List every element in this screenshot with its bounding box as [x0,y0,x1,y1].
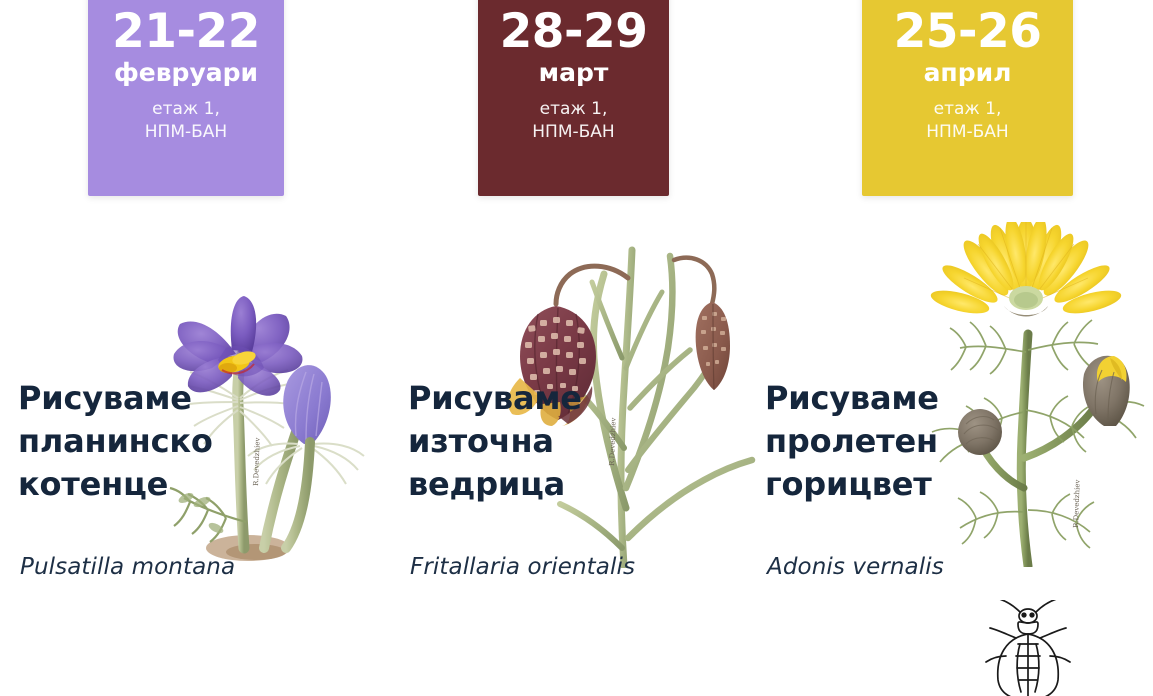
venue-line-1: етаж 1, [868,98,1067,121]
workshop-title: Рисуваме източна ведрица [408,377,582,506]
workshop-column-fritillaria: R.Devedzhiev Рисуваме източна ведрица Fr… [390,196,762,648]
artist-signature: R.Devedzhiev [252,437,262,486]
date-cards-row: 21-22 февруари етаж 1, НПМ-БАН 28-29 мар… [0,0,1153,196]
date-range-label: 25-26 [868,8,1067,57]
latin-species-name: Adonis vernalis [767,554,944,580]
venue-label: етаж 1, НПМ-БАН [484,98,663,144]
venue-line-1: етаж 1, [94,98,278,121]
latin-species-name: Fritallaria orientalis [410,554,635,580]
date-range-label: 28-29 [484,8,663,57]
workshop-title: Рисуваме планинско котенце [18,377,213,506]
date-card-march[interactable]: 28-29 март етаж 1, НПМ-БАН [478,0,669,196]
latin-species-name: Pulsatilla montana [20,554,235,580]
artist-signature: R.Devedzhiev [608,417,618,466]
date-card-april[interactable]: 25-26 април етаж 1, НПМ-БАН [862,0,1073,196]
venue-line-1: етаж 1, [484,98,663,121]
venue-label: етаж 1, НПМ-БАН [94,98,278,144]
date-range-label: 21-22 [94,8,278,57]
poster-canvas: 21-22 февруари етаж 1, НПМ-БАН 28-29 мар… [0,0,1153,648]
adonis-flower-illustration: R.Devedzhiev [902,222,1153,567]
month-label: февруари [94,59,278,87]
workshops-row: R.Devedzhiev Рисуваме планинско котенце … [0,196,1153,648]
workshop-column-adonis: R.Devedzhiev Рисуваме пролетен горицвет … [762,196,1153,648]
workshop-column-pulsatilla: R.Devedzhiev Рисуваме планинско котенце … [0,196,390,648]
venue-line-2: НПМ-БАН [868,121,1067,144]
date-card-february[interactable]: 21-22 февруари етаж 1, НПМ-БАН [88,0,284,196]
month-label: април [868,59,1067,87]
beetle-logo-icon [982,600,1074,696]
month-label: март [484,59,663,87]
workshop-title: Рисуваме пролетен горицвет [765,377,939,506]
venue-line-2: НПМ-БАН [484,121,663,144]
artist-signature: R.Devedzhiev [1072,479,1082,528]
venue-line-2: НПМ-БАН [94,121,278,144]
venue-label: етаж 1, НПМ-БАН [868,98,1067,144]
